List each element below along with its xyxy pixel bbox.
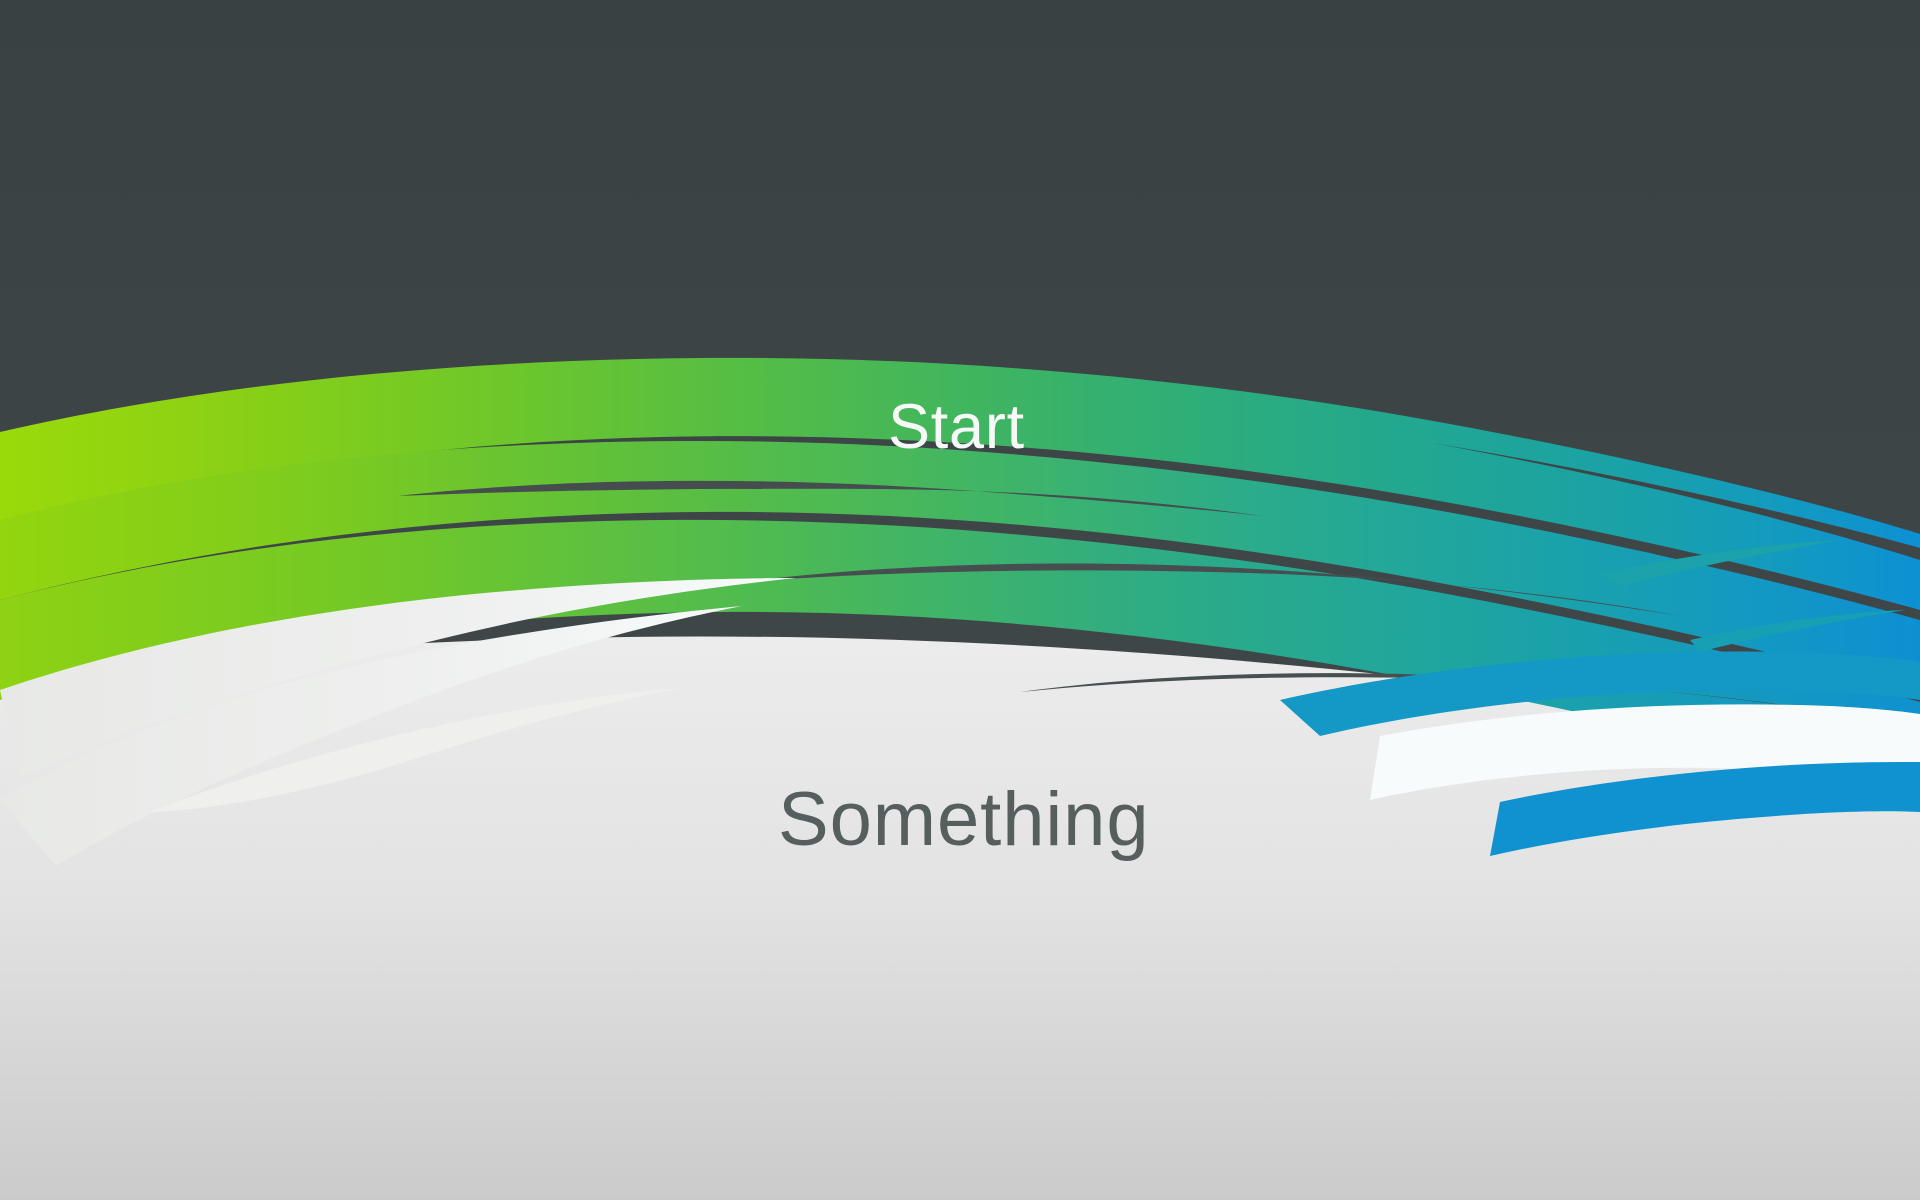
- decorative-wave-artwork: [0, 0, 1920, 1200]
- splash-canvas: Start Something: [0, 0, 1920, 1200]
